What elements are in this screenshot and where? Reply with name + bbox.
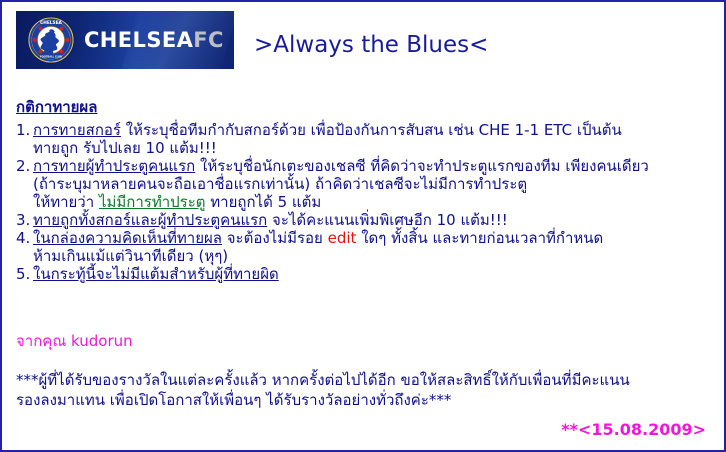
rule-keyword-edit: edit xyxy=(328,229,357,247)
rule-cont-2b: ให้ทายว่า ไม่มีการทำประตู ทายถูกได้ 5 แต… xyxy=(16,193,716,211)
rule-number-4: 4. xyxy=(16,229,30,247)
rule-number-5: 5. xyxy=(16,265,30,283)
banner-wordmark: CHELSEAFC xyxy=(84,27,224,53)
rule-number-2: 2. xyxy=(16,157,30,175)
chelsea-club-crest-icon: CHELSEA FOOTBALL CLUB xyxy=(27,16,75,64)
rule-link-4[interactable]: ในกล่องความคิดเห็นที่ทายผล xyxy=(33,229,222,247)
author-signature: จากคุณ kudorun xyxy=(16,329,133,353)
rule-link-3[interactable]: ทายถูกทั้งสกอร์และผู้ทำประตูคนแรก xyxy=(33,211,267,229)
rule-highlight-no-goal[interactable]: ไม่มีการทำประตู xyxy=(99,193,206,211)
crest-bottom-text: FOOTBALL CLUB xyxy=(40,55,62,58)
prize-note: ***ผู้ที่ได้รับของรางวัลในแต่ละครั้งแล้ว… xyxy=(16,370,716,410)
rule-item-4: 4.ในกล่องความคิดเห็นที่ทายผล จะต้องไม่มี… xyxy=(16,229,716,247)
rule-text-1: ให้ระบุชื่อทีมกำกับสกอร์ด้วย เพื่อป้องกั… xyxy=(121,121,622,139)
chelsea-fc-banner: CHELSEA FOOTBALL CLUB CHELSEAFC xyxy=(16,11,234,69)
page-header: CHELSEA FOOTBALL CLUB CHELSEAFC >Always … xyxy=(2,2,726,84)
date-stamp: **<15.08.2009> xyxy=(561,420,706,439)
rule-link-1[interactable]: การทายสกอร์ xyxy=(33,121,121,139)
rule-text-4-before: จะต้องไม่มีรอย xyxy=(222,229,328,247)
rule-number-1: 1. xyxy=(16,121,30,139)
rule-cont-1: ทายถูก รับไปเลย 10 แต้ม!!! xyxy=(16,139,716,157)
rule-text-4-after: ใดๆ ทั้งสิ้น และทายก่อนเวลาที่กำหนด xyxy=(356,229,603,247)
rules-section: กติกาทายผล 1.การทายสกอร์ ให้ระบุชื่อทีมก… xyxy=(16,98,716,283)
rule-cont-2b-before: ให้ทายว่า xyxy=(33,193,99,211)
prize-note-line-2: รองลงมาแทน เพื่อเปิดโอกาสให้เพื่อนๆ ได้ร… xyxy=(16,390,716,410)
rule-cont-4: ห้ามเกินแม้แต่วินาทีเดียว (หุๆ) xyxy=(16,247,716,265)
rule-item-1: 1.การทายสกอร์ ให้ระบุชื่อทีมกำกับสกอร์ด้… xyxy=(16,121,716,139)
rule-cont-2a: (ถ้าระบุมาหลายคนจะถือเอาชื่อแรกเท่านั้น)… xyxy=(16,175,716,193)
crest-top-text: CHELSEA xyxy=(40,20,62,26)
rule-link-2[interactable]: การทายผู้ทำประตูคนแรก xyxy=(33,157,195,175)
rule-link-5[interactable]: ในกระทู้นี้จะไม่มีแต้มสำหรับผู้ที่ทายผิด xyxy=(33,265,279,283)
prize-note-line-1: ***ผู้ที่ได้รับของรางวัลในแต่ละครั้งแล้ว… xyxy=(16,370,716,390)
rules-heading: กติกาทายผล xyxy=(16,98,716,116)
banner-word-chelsea: CHELSEA xyxy=(84,28,193,52)
rule-text-2: ให้ระบุชื่อนักเตะของเชลซี ที่คิดว่าจะทำป… xyxy=(195,157,649,175)
rule-cont-2b-after: ทายถูกได้ 5 แต้ม xyxy=(206,193,322,211)
rule-number-3: 3. xyxy=(16,211,30,229)
rule-item-2: 2.การทายผู้ทำประตูคนแรก ให้ระบุชื่อนักเต… xyxy=(16,157,716,175)
rule-item-5: 5.ในกระทู้นี้จะไม่มีแต้มสำหรับผู้ที่ทายผ… xyxy=(16,265,716,283)
page-root: CHELSEA FOOTBALL CLUB CHELSEAFC >Always … xyxy=(0,0,726,452)
rule-item-3: 3.ทายถูกทั้งสกอร์และผู้ทำประตูคนแรก จะได… xyxy=(16,211,716,229)
rule-text-3: จะได้คะแนนเพิ่มพิเศษอีก 10 แต้ม!!! xyxy=(267,211,508,229)
page-tagline: >Always the Blues< xyxy=(254,32,488,58)
banner-word-fc: FC xyxy=(193,28,224,52)
